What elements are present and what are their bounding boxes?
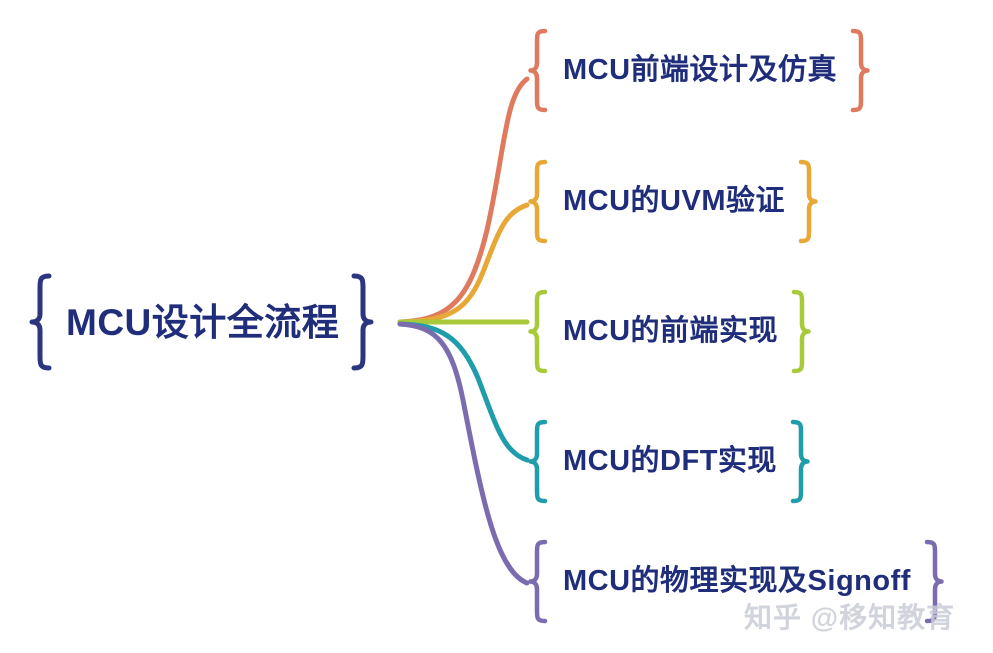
connector-curve-2 [400,205,527,322]
branch-3-label: MCU的前端实现 [549,317,790,346]
connector-curve-4 [400,324,527,460]
branch-3-left-brace-icon [527,288,549,375]
branch-node-2[interactable]: MCU的UVM验证 [527,158,819,245]
branch-node-3[interactable]: MCU的前端实现 [527,288,812,375]
branch-2-left-brace-icon [527,158,549,245]
connector-curve-1 [400,79,527,322]
root-right-brace-icon [349,272,375,372]
branch-1-left-brace-icon [527,27,549,114]
branch-1-right-brace-icon [849,27,871,114]
branch-node-4[interactable]: MCU的DFT实现 [527,418,811,505]
branch-1-label: MCU前端设计及仿真 [549,56,849,85]
connector-curve-5 [400,324,527,583]
watermark-text: 知乎 @移知教育 [744,596,955,636]
branch-4-right-brace-icon [789,418,811,505]
branch-3-right-brace-icon [790,288,812,375]
branch-node-1[interactable]: MCU前端设计及仿真 [527,27,871,114]
branch-4-label: MCU的DFT实现 [549,447,789,476]
root-node-label: MCU设计全流程 [54,304,349,341]
branch-5-label: MCU的物理实现及Signoff [549,567,923,596]
mindmap-canvas: MCU设计全流程 MCU前端设计及仿真 MCU的UVM验证 MCU的前端实现 [0,0,993,653]
root-node[interactable]: MCU设计全流程 [28,272,375,372]
branch-4-left-brace-icon [527,418,549,505]
branch-2-right-brace-icon [797,158,819,245]
branch-5-left-brace-icon [527,538,549,625]
branch-2-label: MCU的UVM验证 [549,187,797,216]
root-left-brace-icon [28,272,54,372]
